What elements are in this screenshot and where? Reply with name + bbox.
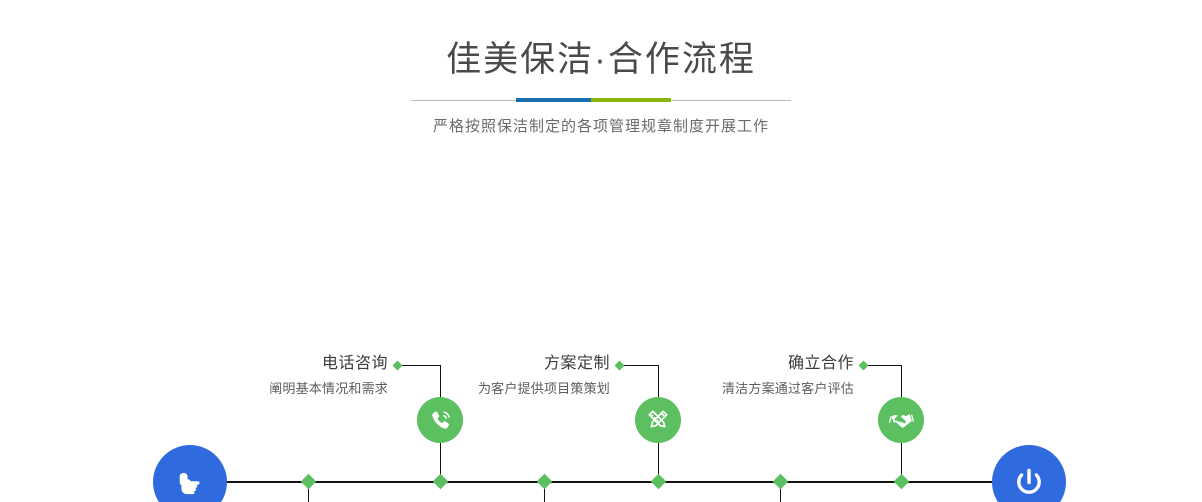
step-5-label-marker [859,361,869,371]
flow-end-node[interactable] [992,445,1066,502]
page-subtitle: 严格按照保洁制定的各项管理规章制度开展工作 [0,117,1202,137]
process-flow-infographic: 佳美保洁·合作流程 严格按照保洁制定的各项管理规章制度开展工作 [0,0,1202,502]
step-3-desc: 为客户提供项目策策划 [355,379,610,398]
divider-blue-segment [516,98,591,102]
step-6-axis-marker [773,474,789,490]
step-5-icon-bubble[interactable] [878,397,924,443]
step-5-axis-marker [894,474,910,490]
power-button-icon [1009,462,1049,502]
title-divider [411,94,791,108]
step-5-desc: 清洁方案通过客户评估 [600,379,854,398]
step-3-axis-marker [651,474,667,490]
timeline-axis [160,481,1042,483]
handshake-icon [888,407,915,434]
step-1-icon-bubble[interactable] [417,397,463,443]
step-1-label: 电话咨询 阐明基本情况和需求 [130,353,388,398]
pointing-hand-icon [170,462,210,502]
step-1-axis-marker [433,474,449,490]
flow-start-node[interactable] [153,445,227,502]
page-title: 佳美保洁·合作流程 [0,38,1202,82]
divider-green-segment [591,98,671,102]
phone-call-icon [427,407,454,434]
step-2-axis-marker [301,474,317,490]
pencil-ruler-icon [645,407,671,433]
step-3-icon-bubble[interactable] [635,397,681,443]
header: 佳美保洁·合作流程 严格按照保洁制定的各项管理规章制度开展工作 [0,0,1202,137]
step-5-connector-horizontal [864,365,901,366]
step-3-label: 方案定制 为客户提供项目策策划 [355,353,610,398]
step-4-axis-marker [537,474,553,490]
step-5-label: 确立合作 清洁方案通过客户评估 [600,353,854,398]
step-1-title: 电话咨询 [130,353,388,374]
step-1-desc: 阐明基本情况和需求 [130,379,388,398]
step-5-title: 确立合作 [600,353,854,374]
flow-diagram: 电话咨询 阐明基本情况和需求 签署协议 签署合同，项目正式启动 [0,160,1202,502]
